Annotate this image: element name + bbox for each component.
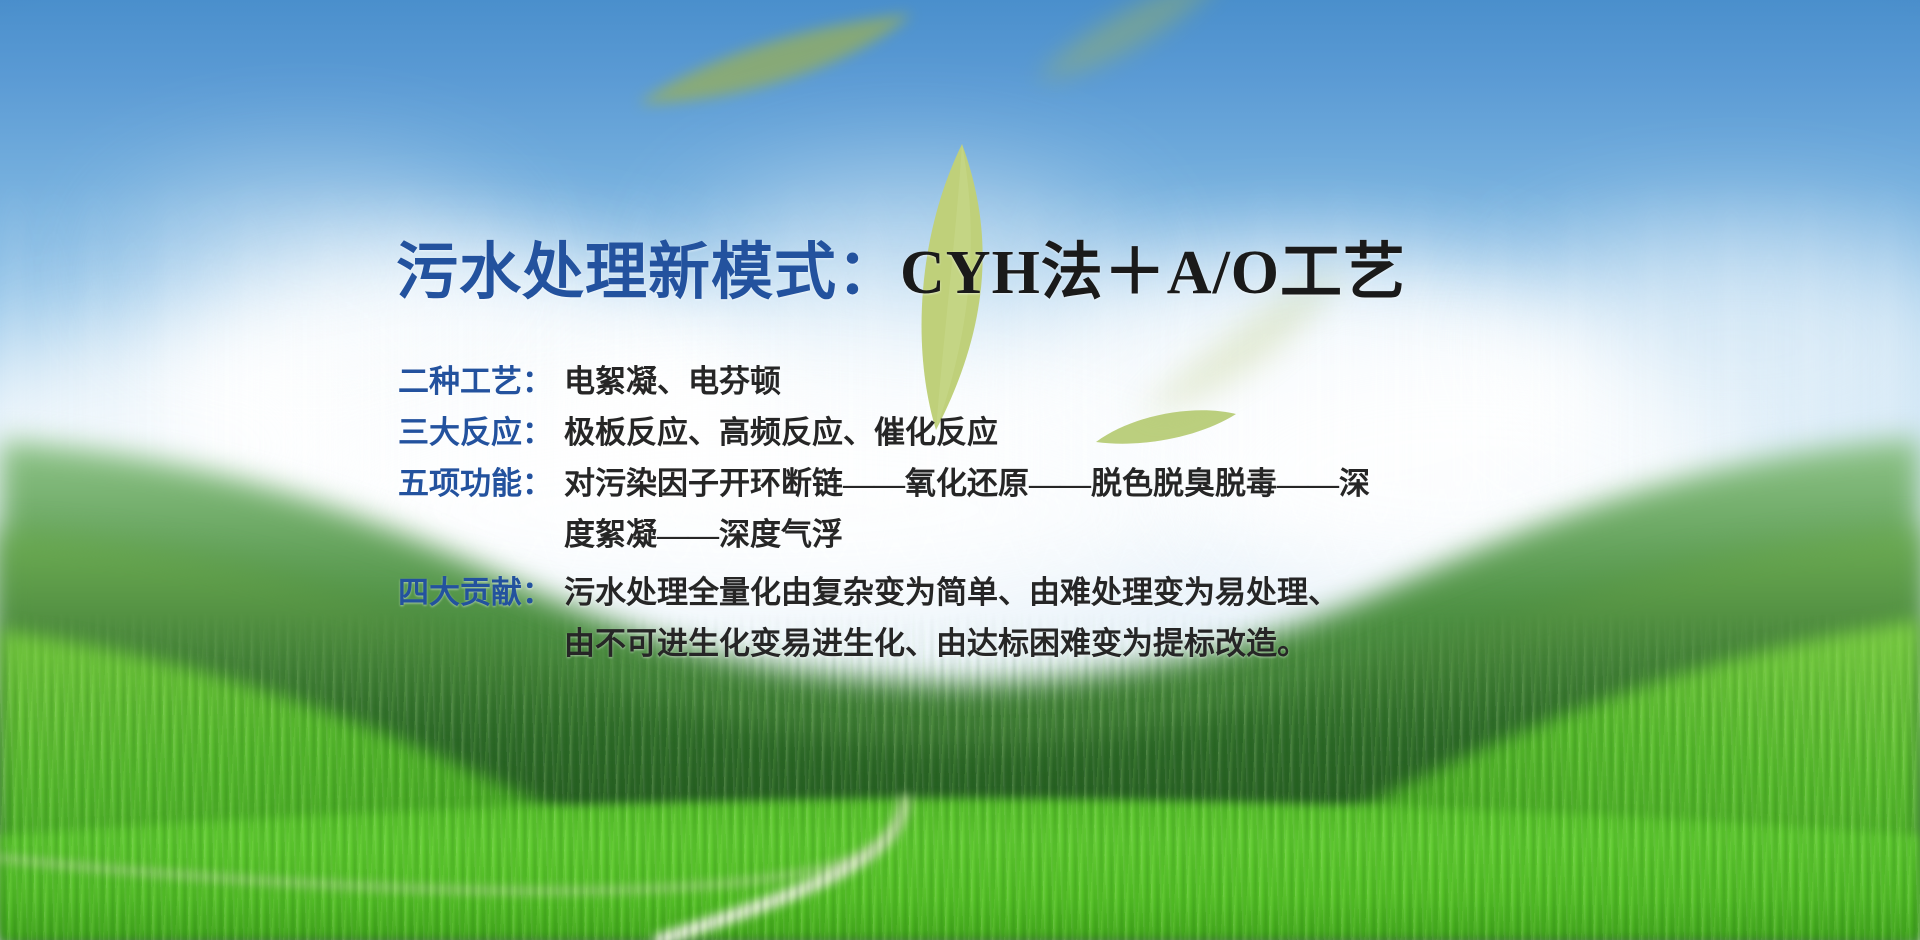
list-item: 五项功能： 对污染因子开环断链——氧化还原——脱色脱臭脱毒——深 xyxy=(398,464,1578,515)
page-title: 污水处理新模式：CYH法＋A/O工艺 xyxy=(396,242,1406,304)
list-item-label: 五项功能： xyxy=(398,464,564,504)
list-item-continuation: 度絮凝——深度气浮 xyxy=(398,515,1578,573)
bullet-list: 二种工艺： 电絮凝、电芬顿 三大反应： 极板反应、高频反应、催化反应 五项功能：… xyxy=(398,362,1578,682)
list-item-continuation-text: 度絮凝——深度气浮 xyxy=(564,515,1578,555)
list-item-text: 污水处理全量化由复杂变为简单、由难处理变为易处理、 xyxy=(564,573,1578,613)
list-item: 四大贡献： 污水处理全量化由复杂变为简单、由难处理变为易处理、 xyxy=(398,573,1578,624)
list-item-continuation-text: 由不可进生化变易进生化、由达标困难变为提标改造。 xyxy=(564,624,1578,664)
list-item-text: 电絮凝、电芬顿 xyxy=(564,362,1578,402)
list-item-text: 极板反应、高频反应、催化反应 xyxy=(564,413,1578,453)
list-item-continuation: 由不可进生化变易进生化、由达标困难变为提标改造。 xyxy=(398,624,1578,682)
list-item-label-spacer xyxy=(398,624,564,664)
list-item-text: 对污染因子开环断链——氧化还原——脱色脱臭脱毒——深 xyxy=(564,464,1578,504)
list-item-label: 四大贡献： xyxy=(398,573,564,613)
slide-canvas: 污水处理新模式：CYH法＋A/O工艺 二种工艺： 电絮凝、电芬顿 三大反应： 极… xyxy=(0,0,1920,940)
text-content: 污水处理新模式：CYH法＋A/O工艺 二种工艺： 电絮凝、电芬顿 三大反应： 极… xyxy=(0,0,1920,940)
list-item-label: 三大反应： xyxy=(398,413,564,453)
list-item: 二种工艺： 电絮凝、电芬顿 xyxy=(398,362,1578,413)
list-item: 三大反应： 极板反应、高频反应、催化反应 xyxy=(398,413,1578,464)
title-latin-part: CYH法＋A/O工艺 xyxy=(900,239,1406,307)
list-item-label: 二种工艺： xyxy=(398,362,564,402)
title-chinese-part: 污水处理新模式： xyxy=(396,239,900,307)
list-item-label-spacer xyxy=(398,515,564,555)
